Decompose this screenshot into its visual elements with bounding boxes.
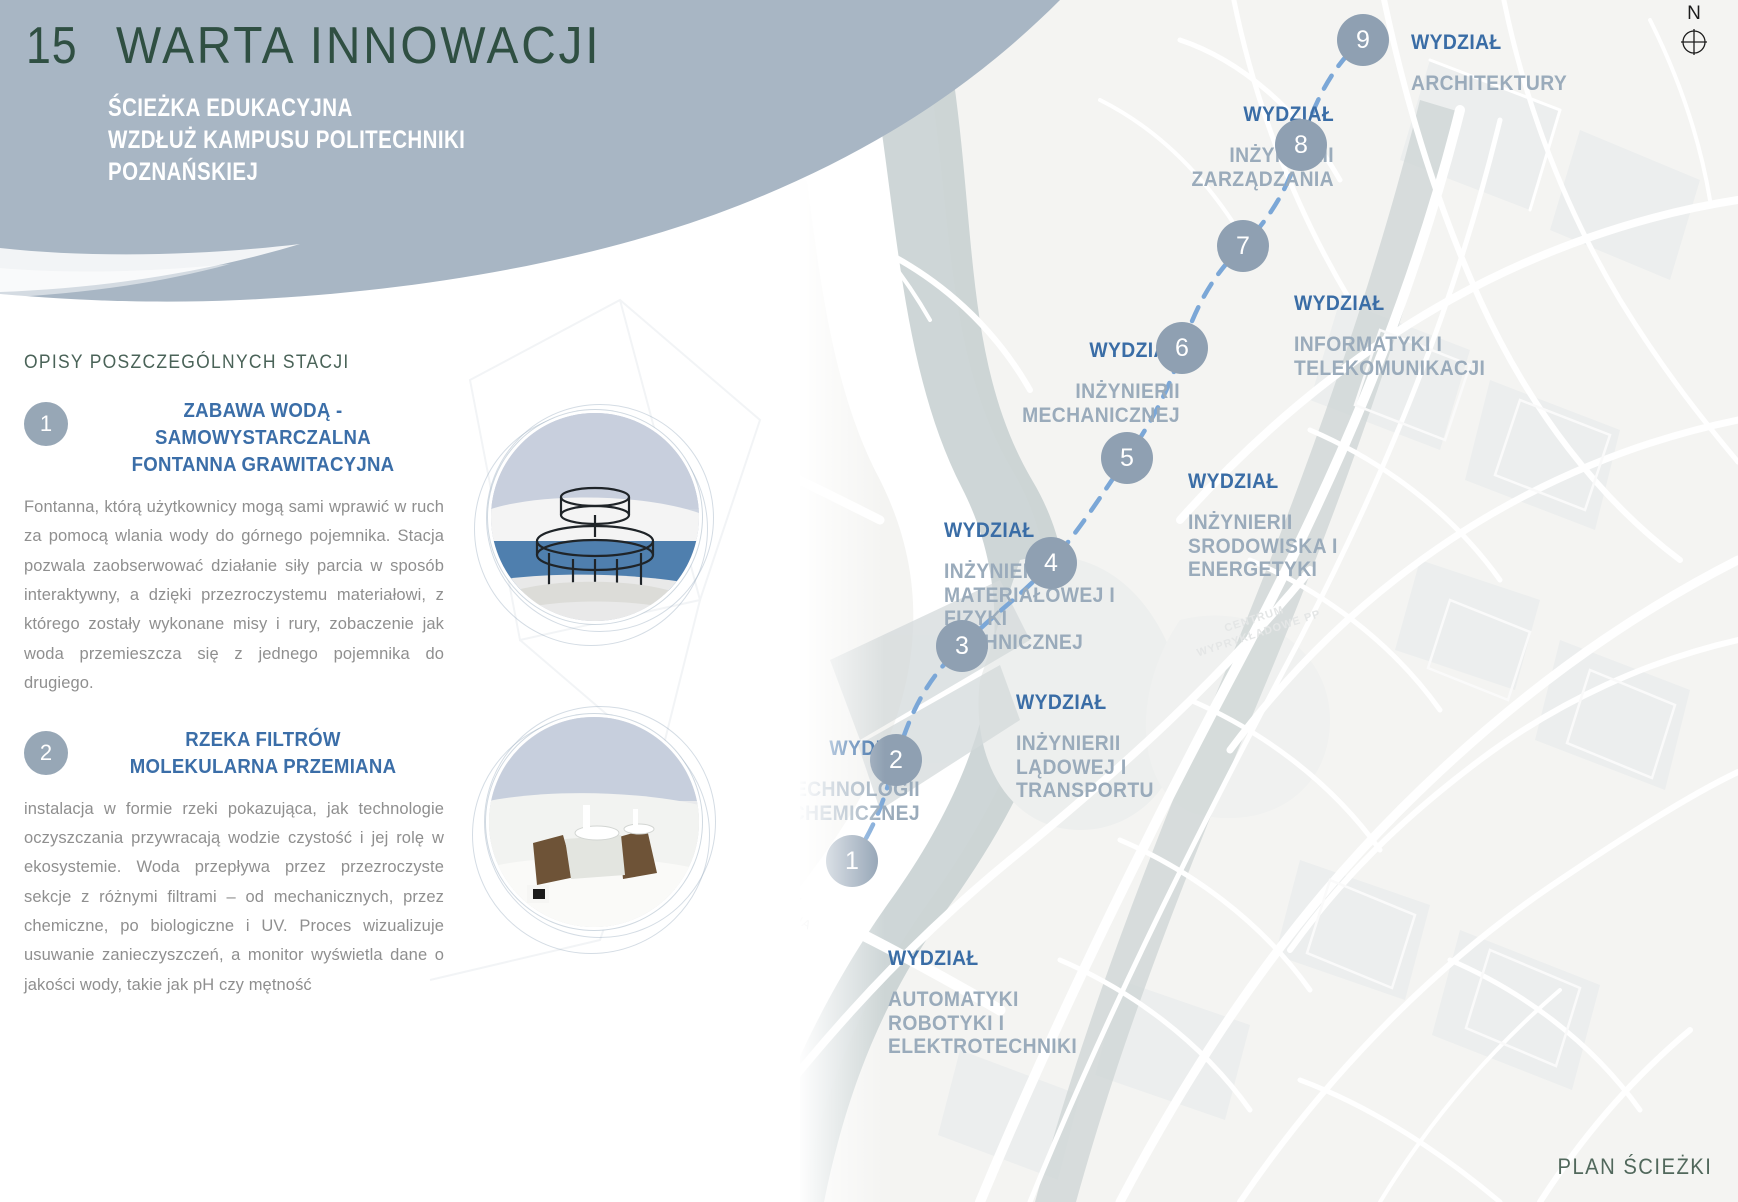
- station-thumb-2-wrap: [470, 700, 720, 960]
- station-badge-2[interactable]: 2: [24, 731, 68, 775]
- dept-name: ARCHITEKTURY: [1411, 72, 1567, 96]
- section-heading: OPISY POSZCZEGÓLNYCH STACJI: [24, 352, 410, 374]
- poster-number: 15: [26, 16, 77, 76]
- dept-name: INŻYNIERII MECHANICZNEJ: [968, 380, 1180, 427]
- station-title-2: RZEKA FILTRÓW MOLEKULARNA PRZEMIANA: [95, 725, 432, 781]
- plan-caption: PLAN ŚCIEŻKI: [1557, 1154, 1712, 1180]
- map-pin-9[interactable]: 9: [1337, 14, 1389, 66]
- map-pin-number: 3: [955, 632, 969, 661]
- dept-name: AUTOMATYKI ROBOTYKI I ELEKTROTECHNIKI: [888, 988, 1077, 1059]
- station-body-1: Fontanna, którą użytkownicy mogą sami wp…: [24, 493, 444, 699]
- station-thumb-2[interactable]: [486, 714, 702, 930]
- map-pin-6[interactable]: 6: [1156, 322, 1208, 374]
- compass-icon: [1679, 27, 1709, 57]
- map-pin-8[interactable]: 8: [1275, 119, 1327, 171]
- header-text: 15 WARTA INNOWACJI ŚCIEŻKA EDUKACYJNA WZ…: [0, 0, 700, 200]
- dept-label-automatyki: WYDZIAŁ AUTOMATYKI ROBOTYKI I ELEKTROTEC…: [888, 932, 1094, 1075]
- station-header-2: 2 RZEKA FILTRÓW MOLEKULARNA PRZEMIANA: [24, 725, 444, 781]
- station-block-2: 2 RZEKA FILTRÓW MOLEKULARNA PRZEMIANA in…: [24, 725, 444, 1001]
- map-pin-number: 6: [1175, 334, 1189, 363]
- station-badge-number: 1: [40, 411, 52, 437]
- map-pin-number: 5: [1120, 444, 1134, 473]
- station-thumb-1[interactable]: [488, 410, 702, 624]
- station-descriptions: OPISY POSZCZEGÓLNYCH STACJI 1 ZABAWA WOD…: [24, 352, 444, 1016]
- dept-name: INŻYNIERII LĄDOWEJ I TRANSPORTU: [1016, 732, 1154, 803]
- map-pin-number: 2: [889, 746, 903, 775]
- dept-name: INFORMATYKI I TELEKOMUNIKACJI: [1294, 333, 1485, 380]
- station-header-1: 1 ZABAWA WODĄ - SAMOWYSTARCZALNA FONTANN…: [24, 396, 444, 479]
- dept-prefix: WYDZIAŁ: [888, 948, 1077, 969]
- dept-name: INŻYNIERII SRODOWISKA I ENERGETYKI: [1188, 511, 1338, 582]
- map-pin-number: 4: [1044, 549, 1058, 578]
- station-body-2: instalacja w formie rzeki pokazująca, ja…: [24, 795, 444, 1001]
- poster-subtitle: ŚCIEŻKA EDUKACYJNA WZDŁUŻ KAMPUSU POLITE…: [108, 92, 593, 188]
- compass-north-label: N: [1672, 4, 1716, 23]
- station-thumb-1-wrap: [470, 398, 720, 648]
- dept-prefix: WYDZIAŁ: [1016, 692, 1154, 713]
- dept-prefix: WYDZIAŁ: [1188, 471, 1338, 492]
- compass-rose: N: [1672, 4, 1716, 57]
- dept-prefix: WYDZIAŁ: [1411, 32, 1567, 53]
- map-pin-number: 8: [1294, 131, 1308, 160]
- poster-page: N MOST ŚW. ROCHA CENTRUM WYPRYKŁADOWE PP…: [0, 0, 1738, 1202]
- station-badge-1[interactable]: 1: [24, 402, 68, 446]
- dept-label-inzynierii-srodowiska: WYDZIAŁ INŻYNIERII SRODOWISKA I ENERGETY…: [1188, 455, 1351, 598]
- station-title-1: ZABAWA WODĄ - SAMOWYSTARCZALNA FONTANNA …: [95, 396, 432, 479]
- map-pin-5[interactable]: 5: [1101, 432, 1153, 484]
- map-pin-number: 7: [1236, 232, 1250, 261]
- dept-label-informatyki: WYDZIAŁ INFORMATYKI I TELEKOMUNIKACJI: [1294, 277, 1502, 396]
- dept-label-inzynierii-mechanicznej: WYDZIAŁ INŻYNIERII MECHANICZNEJ: [950, 324, 1180, 443]
- dept-prefix: WYDZIAŁ: [944, 520, 1115, 541]
- map-pin-3[interactable]: 3: [936, 620, 988, 672]
- station-badge-number: 2: [40, 740, 52, 766]
- map-pin-4[interactable]: 4: [1025, 537, 1077, 589]
- map-pin-7[interactable]: 7: [1217, 220, 1269, 272]
- dept-prefix: WYDZIAŁ: [1294, 293, 1485, 314]
- dept-prefix: WYDZIAŁ: [968, 340, 1180, 361]
- dept-label-inzynierii-ladowej: WYDZIAŁ INŻYNIERII LĄDOWEJ I TRANSPORTU: [1016, 676, 1166, 819]
- poster-title-row: 15 WARTA INNOWACJI: [26, 16, 643, 76]
- station-block-1: 1 ZABAWA WODĄ - SAMOWYSTARCZALNA FONTANN…: [24, 396, 444, 699]
- poster-title: WARTA INNOWACJI: [116, 16, 601, 76]
- dept-label-architektury: WYDZIAŁ ARCHITEKTURY: [1411, 16, 1581, 112]
- map-pin-number: 9: [1356, 26, 1370, 55]
